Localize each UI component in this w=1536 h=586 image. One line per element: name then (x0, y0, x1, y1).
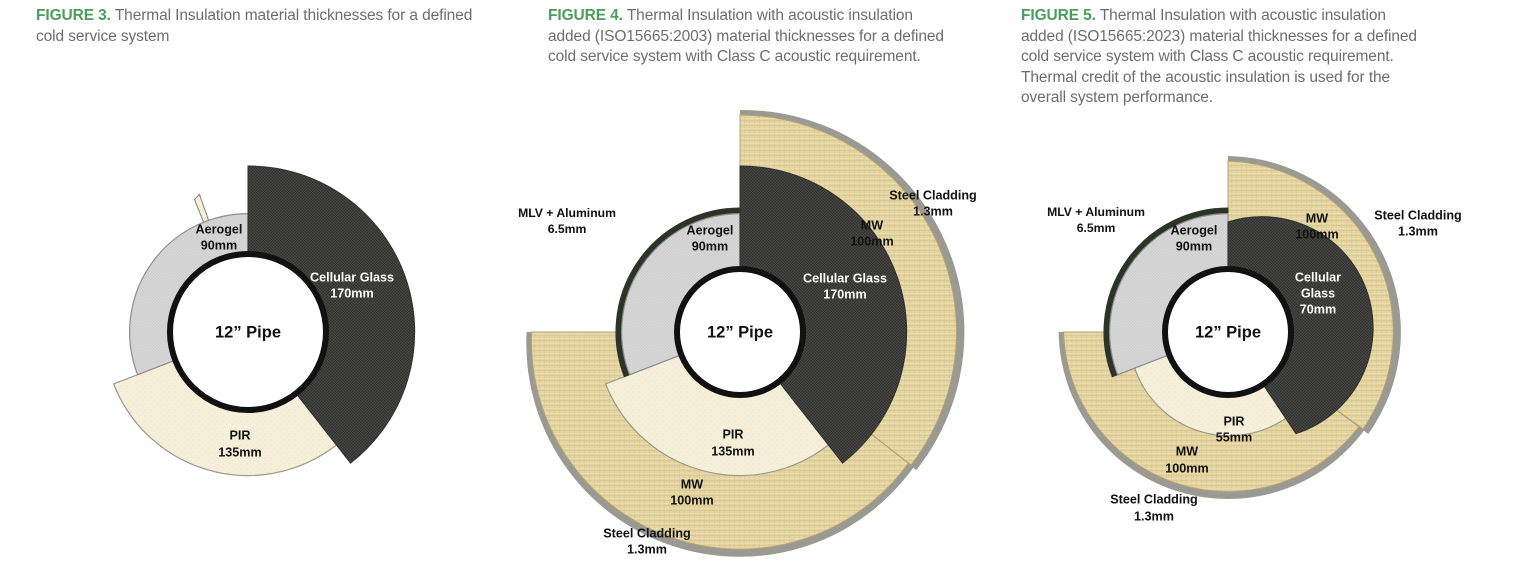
fig3-cellular-glass-label: Cellular Glass (310, 270, 394, 284)
fig3-aerogel-value: 90mm (201, 238, 237, 252)
fig4-pipe-label: 12” Pipe (707, 323, 773, 341)
fig4-steel-top-label: Steel Cladding (889, 188, 976, 202)
figure-3-diagram: Aerogel 90mm Cellular Glass 170mm PIR 13… (0, 0, 512, 586)
fig4-steel-bottom-value: 1.3mm (627, 542, 667, 556)
fig4-mlv-value: 6.5mm (548, 222, 587, 236)
fig4-steel-top-value: 1.3mm (913, 204, 953, 218)
fig5-steel-top-value: 1.3mm (1398, 224, 1438, 238)
fig3-pir-label: PIR (230, 428, 251, 442)
fig4-cellular-glass-label: Cellular Glass (803, 271, 887, 285)
fig4-mlv-label: MLV + Aluminum (518, 206, 616, 220)
fig3-aerogel-label: Aerogel (196, 222, 243, 236)
fig5-mw-top-label: MW (1306, 211, 1328, 225)
fig5-pir-value: 55mm (1216, 430, 1252, 444)
fig5-cellular-glass-value: 70mm (1300, 302, 1336, 316)
fig5-aerogel-label: Aerogel (1171, 223, 1218, 237)
fig5-steel-bottom-label: Steel Cladding (1110, 492, 1197, 506)
figure-5-diagram: MLV + Aluminum 6.5mm Aerogel 90mm Cellul… (1024, 0, 1536, 586)
fig4-aerogel-label: Aerogel (687, 223, 734, 237)
fig4-mw-bottom-label: MW (681, 477, 703, 491)
fig3-pir-value: 135mm (218, 445, 261, 459)
fig5-cellular-glass-label-1: Cellular (1295, 270, 1341, 284)
fig3-pipe-label: 12” Pipe (215, 323, 281, 341)
figure-4-diagram: MLV + Aluminum 6.5mm Aerogel 90mm Cellul… (512, 0, 1024, 586)
fig5-mw-bottom-value: 100mm (1165, 461, 1208, 475)
fig5-steel-top-label: Steel Cladding (1374, 208, 1461, 222)
fig4-mw-top-label: MW (861, 218, 883, 232)
fig4-cellular-glass-value: 170mm (823, 287, 866, 301)
fig5-pir-label: PIR (1224, 414, 1245, 428)
fig5-mlv-label: MLV + Aluminum (1047, 205, 1145, 219)
fig4-pir-label: PIR (723, 427, 744, 441)
fig5-pipe-label: 12” Pipe (1195, 323, 1261, 341)
figures-page: FIGURE 3. Thermal Insulation material th… (0, 0, 1536, 586)
fig4-pir-value: 135mm (711, 444, 754, 458)
fig5-mw-top-value: 100mm (1295, 227, 1338, 241)
fig4-mw-top-value: 100mm (850, 234, 893, 248)
fig5-mw-bottom-label: MW (1176, 444, 1198, 458)
fig5-steel-bottom-value: 1.3mm (1134, 509, 1174, 523)
fig3-cellular-glass-value: 170mm (330, 286, 373, 300)
fig4-mw-bottom-value: 100mm (670, 493, 713, 507)
fig5-aerogel-value: 90mm (1176, 239, 1212, 253)
fig5-cellular-glass-label-2: Glass (1301, 286, 1335, 300)
fig5-mlv-value: 6.5mm (1077, 221, 1116, 235)
fig4-aerogel-value: 90mm (692, 239, 728, 253)
fig4-steel-bottom-label: Steel Cladding (603, 526, 690, 540)
